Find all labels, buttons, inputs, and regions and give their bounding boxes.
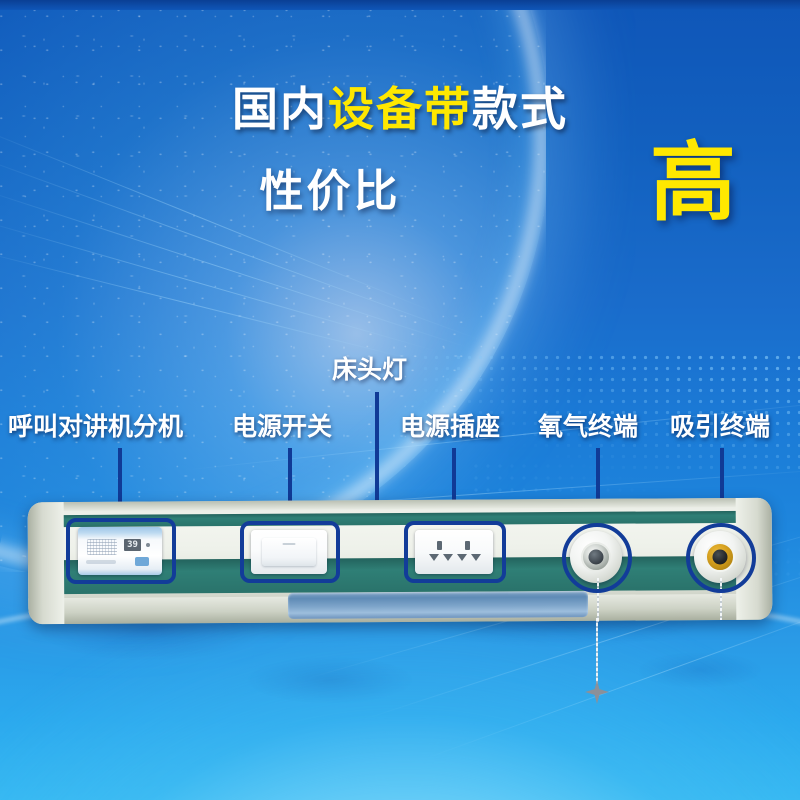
panel-lower-rail [288,591,588,619]
pull-cord[interactable] [596,618,598,688]
callout-label-intercom: 呼叫对讲机分机 [8,415,183,440]
light-ray [0,214,441,353]
emphasis-char: 高 [650,140,736,226]
callout-label-suction-terminal: 吸引终端 [670,415,770,440]
headline: 国内设备带款式 [0,86,800,132]
halftone-dots-upper [420,352,800,470]
highlight-power-switch [240,521,340,583]
highlight-oxygen-terminal [562,523,632,593]
top-band [0,0,800,10]
highlight-power-socket [404,521,506,583]
headline-part3: 款式 [472,83,568,135]
highlight-intercom [66,518,176,584]
panel-end-cap-left [28,502,65,624]
highlight-suction-terminal [686,523,756,593]
callout-label-oxygen-terminal: 氧气终端 [538,415,638,440]
callout-label-power-socket: 电源插座 [400,415,500,440]
callout-label-bed-lamp: 床头灯 [332,358,407,383]
headline-part2: 设备带 [328,83,472,135]
promo-banner: 国内设备带款式 性价比 高 呼叫对讲机分机 电源开关 床头灯 电源插座 氧气终端… [0,0,800,800]
headline-part1: 国内 [232,83,328,135]
callout-label-power-switch: 电源开关 [232,415,332,440]
